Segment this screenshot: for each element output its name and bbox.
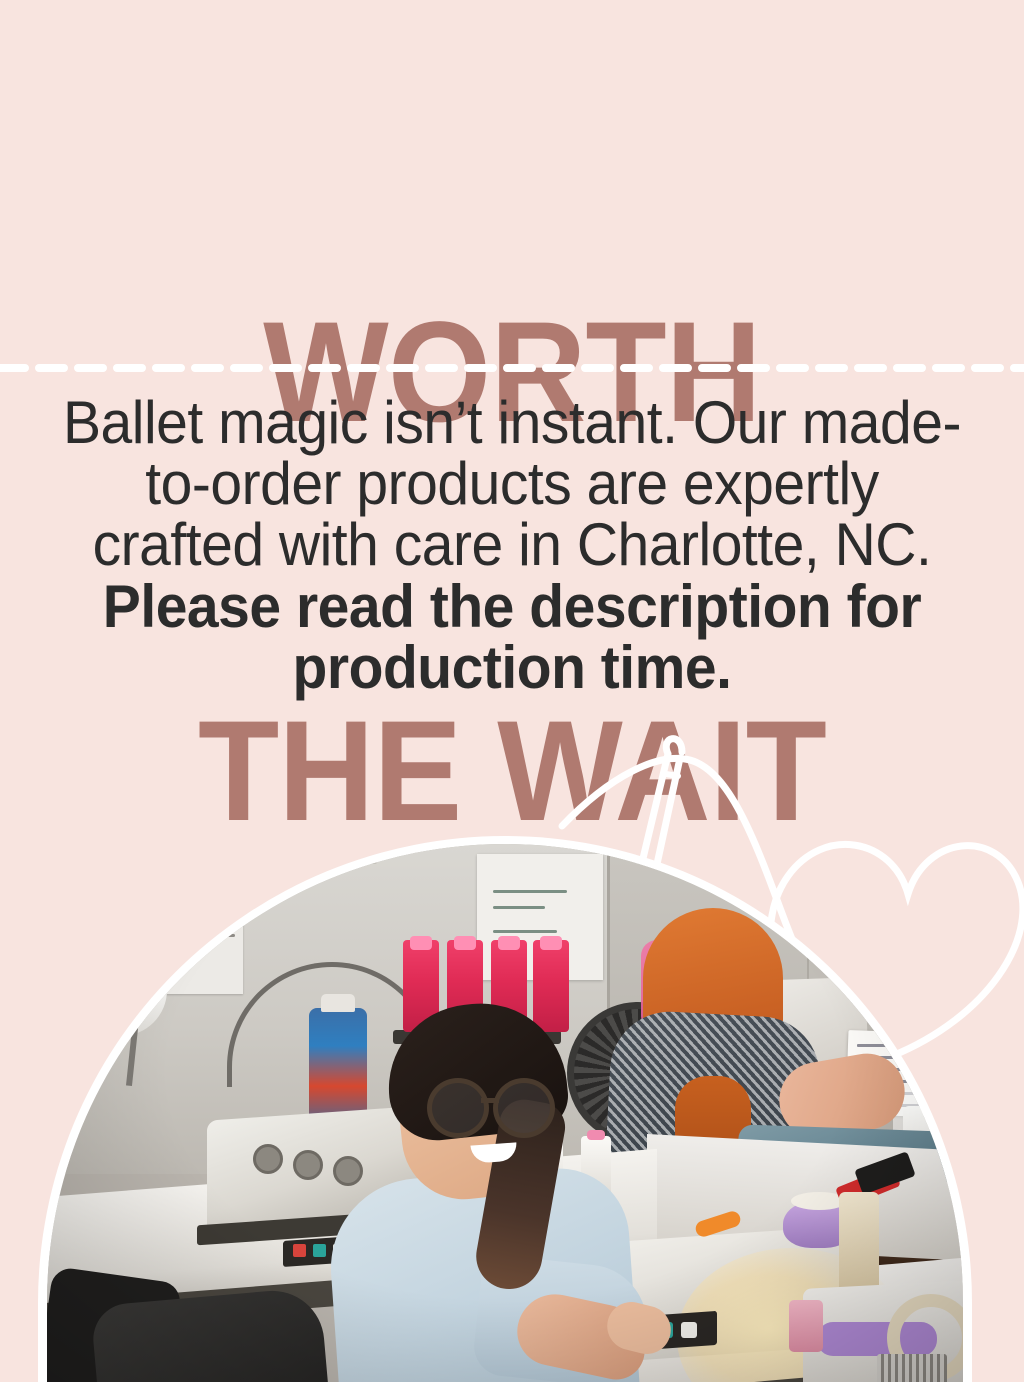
workshop-scene (47, 844, 963, 1382)
body-line-2: to-order products are expertly (50, 453, 973, 514)
divider (0, 364, 1024, 372)
workshop-photo (47, 844, 963, 1382)
body-copy: Ballet magic isn’t instant. Our made- to… (50, 392, 973, 698)
body-line-4: Please read the description for (50, 576, 973, 637)
poster-canvas: WORTH THE WAIT Ballet magic isn’t instan… (0, 0, 1024, 1382)
body-line-1: Ballet magic isn’t instant. Our made- (50, 392, 973, 453)
body-line-5: production time. (50, 637, 973, 698)
workshop-photo-frame (38, 836, 972, 1382)
headline-line-2: THE WAIT (36, 705, 988, 838)
divider-dashes-icon (0, 364, 1024, 372)
body-line-3: crafted with care in Charlotte, NC. (50, 514, 973, 575)
